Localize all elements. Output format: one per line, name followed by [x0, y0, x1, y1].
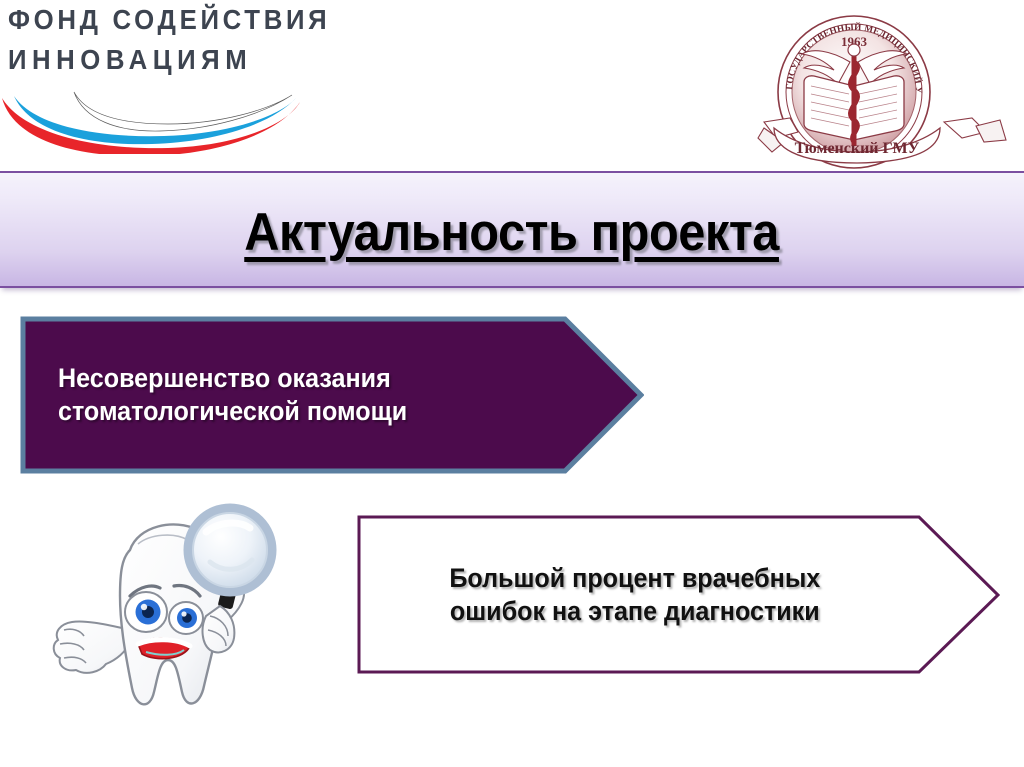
tyumen-gmu-emblem: ТЮМЕНСКИЙ ГОСУДАРСТВЕННЫЙ МЕДИЦИНСКИЙ УН…	[754, 0, 1014, 170]
arrow-1-line-2: стоматологической помощи	[58, 395, 495, 428]
tooth-character-icon	[34, 500, 324, 725]
university-seal-icon: ТЮМЕНСКИЙ ГОСУДАРСТВЕННЫЙ МЕДИЦИНСКИЙ УН…	[754, 0, 1014, 170]
title-banner: Актуальность проекта	[0, 171, 1024, 288]
fund-logo-line-2: ИННОВАЦИЯМ	[8, 44, 252, 76]
arrow-1-line-1: Несовершенство оказания	[58, 362, 495, 395]
seal-ribbon-label: Тюменский ГМУ	[795, 140, 920, 157]
arrow-banner-imperfect-dental-care: Несовершенство оказания стоматологическо…	[20, 316, 644, 474]
arrow-2-text: Большой процент врачебных ошибок на этап…	[393, 562, 877, 628]
fund-logo-line-1: ФОНД СОДЕЙСТВИЯ	[8, 4, 330, 36]
arrow-2-line-1: Большой процент врачебных	[393, 562, 877, 595]
tricolor-swoosh-icon	[0, 84, 310, 154]
angry-tooth-mascot	[34, 500, 324, 725]
arrow-1-text: Несовершенство оказания стоматологическо…	[58, 362, 495, 428]
arrow-2-line-2: ошибок на этапе диагностики	[393, 595, 877, 628]
page-title: Актуальность проекта	[245, 202, 780, 263]
fund-logo: ФОНД СОДЕЙСТВИЯ ИННОВАЦИЯМ	[0, 0, 320, 150]
slide-root: ФОНД СОДЕЙСТВИЯ ИННОВАЦИЯМ	[0, 0, 1024, 767]
arrow-banner-diagnostic-errors: Большой процент врачебных ошибок на этап…	[357, 515, 1000, 674]
